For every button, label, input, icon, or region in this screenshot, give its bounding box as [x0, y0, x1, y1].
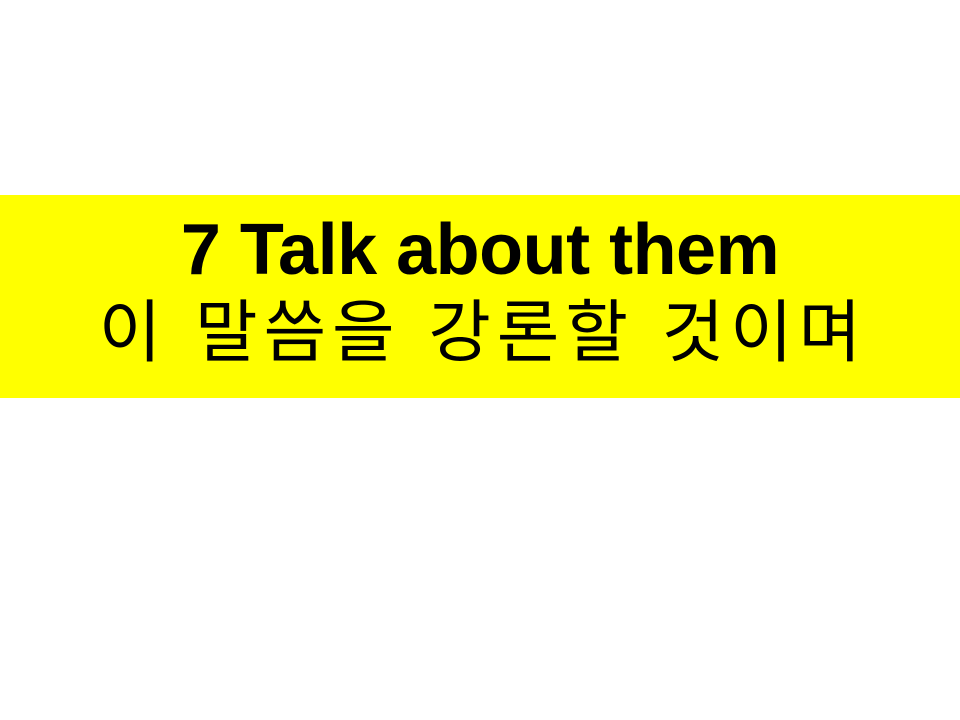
verse-title-english: 7 Talk about them — [0, 214, 960, 286]
slide-canvas: 7 Talk about them 이 말씀을 강론할 것이며 — [0, 0, 960, 720]
verse-title-korean: 이 말씀을 강론할 것이며 — [0, 300, 960, 368]
highlighted-text-band: 7 Talk about them 이 말씀을 강론할 것이며 — [0, 195, 960, 398]
